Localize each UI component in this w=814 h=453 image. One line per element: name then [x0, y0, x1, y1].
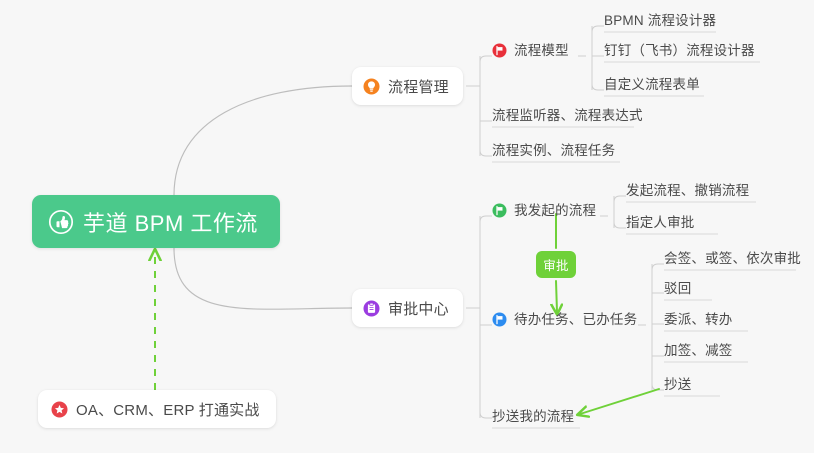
flag-icon: [492, 312, 507, 327]
branch-node-process[interactable]: 流程管理: [352, 67, 463, 105]
edge-root-to-process: [174, 86, 352, 195]
note-node-integration[interactable]: OA、CRM、ERP 打通实战: [38, 390, 276, 428]
edge-mine-c1: [614, 196, 626, 202]
annotation-pill-approve[interactable]: 审批: [536, 251, 576, 278]
leaf-process-listener[interactable]: 流程监听器、流程表达式: [492, 108, 643, 129]
thumbs-up-icon: [48, 209, 74, 235]
leaf-cc-to-me-label: 抄送我的流程: [492, 409, 574, 424]
leaf-dingtalk-designer[interactable]: 钉钉（飞书）流程设计器: [604, 43, 755, 64]
leaf-bpmn-designer-label: BPMN 流程设计器: [604, 13, 716, 28]
leaf-add-remove-sign-label: 加签、减签: [664, 343, 733, 358]
edge-root-to-approval: [174, 248, 352, 309]
branch-node-process-label: 流程管理: [388, 76, 449, 97]
leaf-dingtalk-designer-label: 钉钉（飞书）流程设计器: [604, 43, 755, 58]
edge-mine-c2: [614, 222, 626, 228]
flag-icon: [492, 203, 507, 218]
edge-approval-c3: [480, 412, 492, 418]
edge-process-spine: [466, 56, 480, 156]
edge-mine-spine: [600, 196, 614, 228]
leaf-process-listener-label: 流程监听器、流程表达式: [492, 108, 643, 123]
lightbulb-icon: [363, 78, 380, 95]
branch-node-approval[interactable]: 审批中心: [352, 289, 463, 327]
root-node[interactable]: 芋道 BPM 工作流: [32, 195, 280, 248]
leaf-custom-form[interactable]: 自定义流程表单: [604, 77, 700, 98]
branch-node-approval-label: 审批中心: [388, 298, 449, 319]
edge-model-c1: [592, 26, 604, 32]
flag-icon: [492, 43, 507, 58]
leaf-todo-done-tasks-label: 待办任务、已办任务: [514, 312, 637, 327]
cross-link-cc-arrow: [580, 389, 659, 414]
annotation-pill-approve-label: 审批: [543, 255, 569, 274]
leaf-process-instance-label: 流程实例、流程任务: [492, 143, 615, 158]
leaf-cc[interactable]: 抄送: [664, 377, 691, 398]
leaf-reject-label: 驳回: [664, 281, 691, 296]
leaf-process-model-label: 流程模型: [514, 43, 569, 58]
edge-model-c3: [592, 84, 604, 90]
leaf-process-instance[interactable]: 流程实例、流程任务: [492, 143, 615, 164]
edge-model-spine: [578, 26, 592, 90]
leaf-cc-label: 抄送: [664, 377, 691, 392]
leaf-delegate-transfer-label: 委派、转办: [664, 312, 733, 327]
star-icon: [51, 401, 68, 418]
mindmap-canvas: 芋道 BPM 工作流 流程管理 审批中心: [0, 0, 814, 453]
leaf-cc-to-me[interactable]: 抄送我的流程: [492, 409, 574, 430]
leaf-my-processes-label: 我发起的流程: [514, 203, 596, 218]
leaf-add-remove-sign[interactable]: 加签、减签: [664, 343, 733, 364]
note-node-integration-label: OA、CRM、ERP 打通实战: [76, 399, 260, 420]
edge-todo-c5: [652, 384, 664, 390]
leaf-delegate-transfer[interactable]: 委派、转办: [664, 312, 733, 333]
leaf-start-cancel-process-label: 发起流程、撤销流程: [626, 183, 749, 198]
root-node-label: 芋道 BPM 工作流: [83, 206, 258, 238]
leaf-countersign[interactable]: 会签、或签、依次审批: [664, 251, 801, 272]
edge-process-c1: [480, 56, 492, 62]
clipboard-icon: [363, 300, 380, 317]
leaf-bpmn-designer[interactable]: BPMN 流程设计器: [604, 13, 716, 34]
leaf-countersign-label: 会签、或签、依次审批: [664, 251, 801, 266]
leaf-assignee-approval-label: 指定人审批: [626, 215, 695, 230]
leaf-todo-done-tasks[interactable]: 待办任务、已办任务: [492, 312, 637, 333]
leaf-my-processes[interactable]: 我发起的流程: [492, 203, 596, 224]
leaf-assignee-approval[interactable]: 指定人审批: [626, 215, 695, 236]
leaf-start-cancel-process[interactable]: 发起流程、撤销流程: [626, 183, 749, 204]
edge-todo-c1: [652, 264, 664, 270]
leaf-process-model[interactable]: 流程模型: [492, 43, 569, 64]
edge-approval-c1: [480, 216, 492, 222]
edge-approval-spine: [466, 216, 480, 418]
edge-todo-spine: [638, 264, 652, 390]
leaf-reject[interactable]: 驳回: [664, 281, 691, 302]
leaf-custom-form-label: 自定义流程表单: [604, 77, 700, 92]
edge-process-c3: [480, 150, 492, 156]
